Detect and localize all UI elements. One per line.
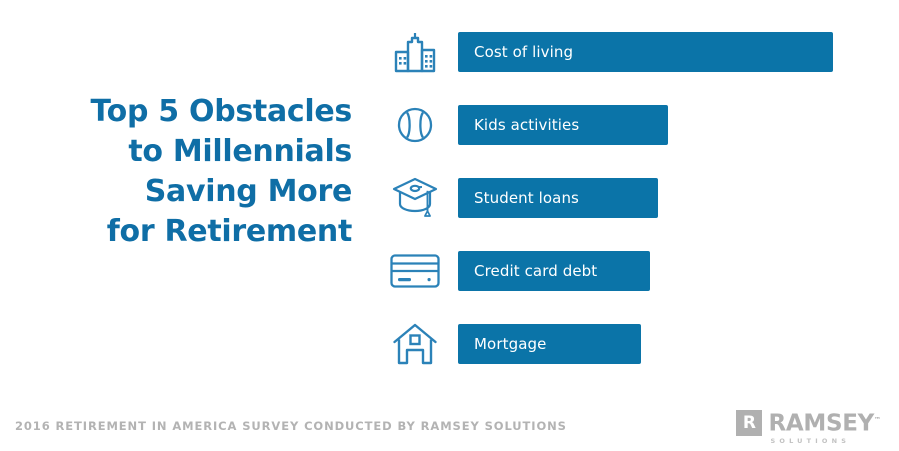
bar-credit-card-debt: Credit card debt: [458, 251, 650, 291]
ramsey-logo-subtitle: SOLUTIONS: [768, 437, 881, 445]
chart-row-kids-activities: Kids activities: [384, 97, 899, 153]
ramsey-logo-text: RAMSEY™ SOLUTIONS: [768, 408, 881, 445]
graduation-cap-icon: [384, 170, 446, 226]
chart-row-student-loans: Student loans: [384, 170, 899, 226]
credit-card-icon: [384, 243, 446, 299]
bar-label: Cost of living: [474, 43, 573, 61]
baseball-icon: [384, 97, 446, 153]
source-note: 2016 RETIREMENT IN AMERICA SURVEY CONDUC…: [15, 419, 567, 433]
bar-cost-of-living: Cost of living: [458, 32, 833, 72]
trademark-symbol: ™: [874, 416, 881, 424]
bar-student-loans: Student loans: [458, 178, 658, 218]
ramsey-logo-mark-letter: R: [743, 415, 756, 432]
bar-mortgage: Mortgage: [458, 324, 641, 364]
house-icon: [384, 316, 446, 372]
bar-chart: Cost of living Kids activities: [0, 0, 899, 400]
ramsey-solutions-logo: R RAMSEY™ SOLUTIONS: [736, 408, 881, 444]
infographic-canvas: Top 5 Obstacles to Millennials Saving Mo…: [0, 0, 899, 451]
bar-label: Credit card debt: [474, 262, 597, 280]
bar-label: Student loans: [474, 189, 579, 207]
bar-label: Mortgage: [474, 335, 546, 353]
buildings-icon: [384, 24, 446, 80]
chart-row-cost-of-living: Cost of living: [384, 24, 899, 80]
bar-label: Kids activities: [474, 116, 579, 134]
ramsey-logo-word: RAMSEY™: [768, 408, 881, 436]
chart-row-mortgage: Mortgage: [384, 316, 899, 372]
ramsey-logo-mark: R: [736, 410, 762, 436]
bar-kids-activities: Kids activities: [458, 105, 668, 145]
ramsey-logo-wordmark: RAMSEY: [768, 411, 874, 437]
chart-row-credit-card-debt: Credit card debt: [384, 243, 899, 299]
